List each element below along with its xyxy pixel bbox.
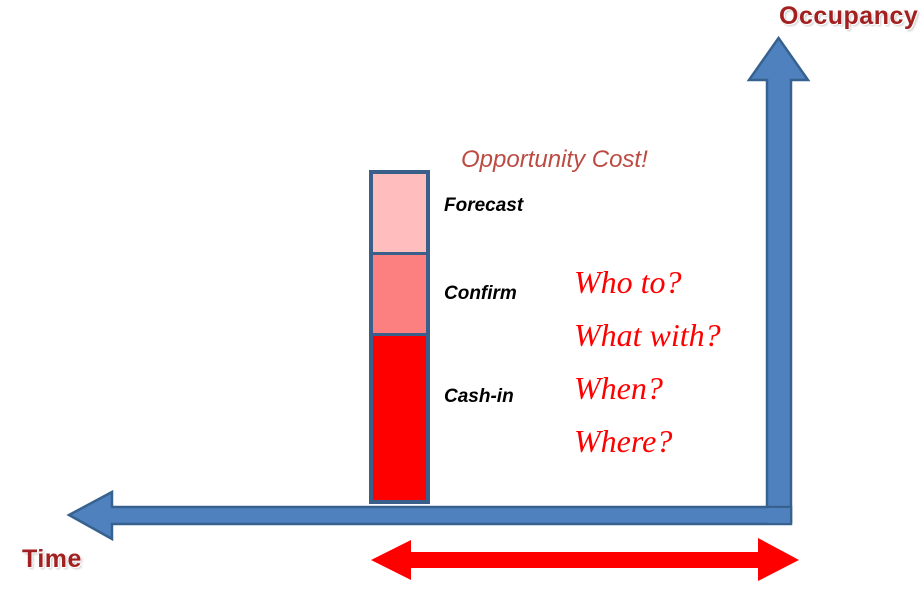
diagram-canvas: Occupancy Time Forecast Confirm Cash-in … (0, 0, 924, 589)
bar-segment-forecast (369, 170, 430, 256)
occupancy-axis-title: Occupancy (779, 2, 918, 31)
questions-list: Who to? What with? When? Where? (574, 266, 774, 478)
opportunity-cost-callout: Opportunity Cost! (461, 146, 648, 174)
bar-segment-confirm (369, 255, 430, 337)
question-item: Where? (574, 425, 774, 457)
bar-label-confirm: Confirm (444, 283, 517, 305)
left-arrow-icon (69, 492, 791, 539)
stacked-bar (369, 170, 430, 504)
bar-segment-cashin (369, 336, 430, 504)
double-headed-arrow-icon (371, 538, 799, 581)
question-item: When? (574, 372, 774, 404)
axis-corner-join (768, 508, 790, 523)
bar-label-cashin: Cash-in (444, 386, 514, 408)
bar-label-forecast: Forecast (444, 195, 523, 217)
question-item: What with? (574, 319, 774, 351)
question-item: Who to? (574, 266, 774, 298)
time-axis-title: Time (22, 545, 82, 574)
